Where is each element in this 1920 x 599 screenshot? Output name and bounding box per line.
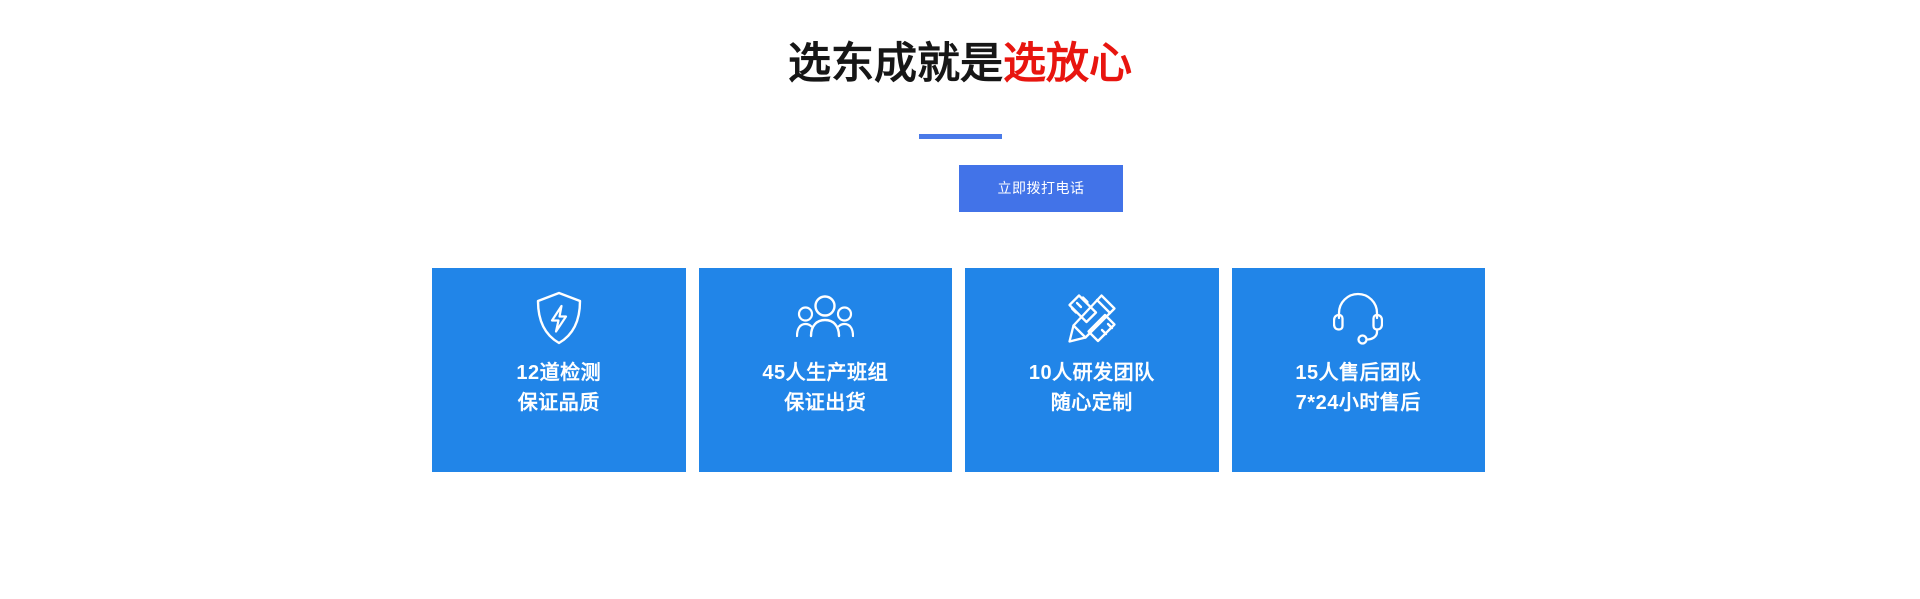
pencil-ruler-icon <box>1062 288 1122 348</box>
feature-line-1: 10人研发团队 <box>1029 358 1155 388</box>
feature-line-1: 15人售后团队 <box>1295 358 1421 388</box>
headset-icon <box>1328 288 1388 348</box>
call-now-button[interactable]: 立即拨打电话 <box>959 165 1123 212</box>
people-group-icon <box>795 288 855 348</box>
heading-text: 选东成就是选放心 <box>788 38 1132 90</box>
title-divider <box>919 134 1002 139</box>
feature-card-text: 15人售后团队 7*24小时售后 <box>1295 358 1421 418</box>
divider-container <box>0 128 1920 146</box>
feature-card-text: 12道检测 保证品质 <box>516 358 601 418</box>
feature-line-1: 45人生产班组 <box>762 358 888 388</box>
feature-line-2: 保证出货 <box>762 388 888 418</box>
promo-section: 选东成就是选放心 立即拨打电话 12道检测 保证品质 <box>0 0 1920 599</box>
cta-container: 立即拨打电话 <box>0 165 1920 212</box>
feature-card-support[interactable]: 15人售后团队 7*24小时售后 <box>1232 268 1486 472</box>
shield-lightning-icon <box>529 288 589 348</box>
feature-card-production[interactable]: 45人生产班组 保证出货 <box>699 268 953 472</box>
feature-line-1: 12道检测 <box>516 358 601 388</box>
feature-line-2: 保证品质 <box>516 388 601 418</box>
feature-card-rnd[interactable]: 10人研发团队 随心定制 <box>965 268 1219 472</box>
page-title: 选东成就是选放心 <box>0 38 1920 90</box>
feature-card-list: 12道检测 保证品质 45人生产班组 保证出货 <box>432 268 1485 472</box>
heading-primary: 选东成就是 <box>788 40 1003 88</box>
feature-card-text: 10人研发团队 随心定制 <box>1029 358 1155 418</box>
feature-card-text: 45人生产班组 保证出货 <box>762 358 888 418</box>
feature-line-2: 7*24小时售后 <box>1295 388 1421 418</box>
heading-accent: 选放心 <box>1003 40 1132 88</box>
feature-card-quality[interactable]: 12道检测 保证品质 <box>432 268 686 472</box>
feature-line-2: 随心定制 <box>1029 388 1155 418</box>
